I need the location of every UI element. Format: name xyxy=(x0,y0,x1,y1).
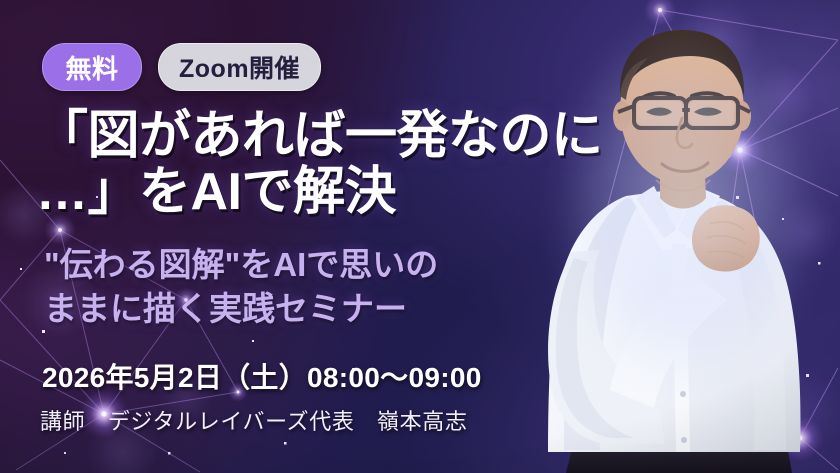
badge-free[interactable]: 無料 xyxy=(42,43,142,91)
seminar-banner: 無料 Zoom開催 「図があれば一発なのに …」をAIで解決 "伝わる図解"をA… xyxy=(0,0,840,473)
speaker-line: 講師 デジタルレイバーズ代表 嶺本高志 xyxy=(40,404,467,436)
badge-zoom-kaisai[interactable]: Zoom開催 xyxy=(158,43,321,91)
event-datetime: 2026年5月2日（土）08:00〜09:00 xyxy=(42,356,482,396)
badge-row: 無料 Zoom開催 xyxy=(42,43,321,91)
subtitle: "伝わる図解"をAIで思いの ままに描く実践セミナー xyxy=(44,243,564,330)
main-title: 「図があれば一発なのに …」をAIで解決 xyxy=(36,108,636,220)
